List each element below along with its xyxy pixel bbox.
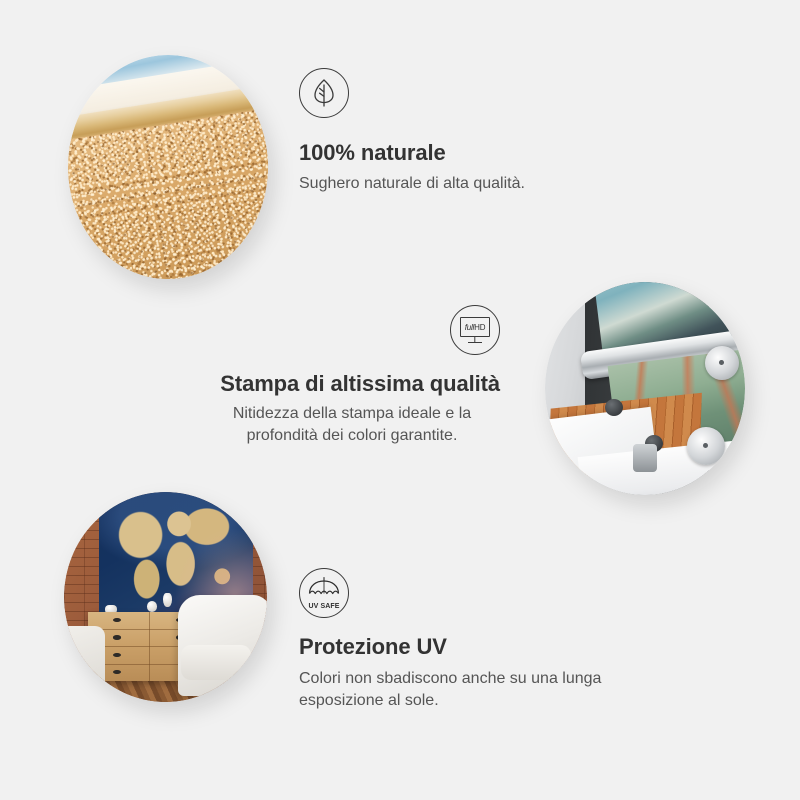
feature-print-title: Stampa di altissima qualità [160,371,500,397]
printer-photo-spindle [633,444,657,472]
feature-uv-title: Protezione UV [299,634,669,660]
cork-board-closeup-photo [68,55,268,279]
room-photo-decor-globe [147,601,157,612]
uv-umbrella-glyph: UV SAFE [305,576,343,610]
umbrella-shape [305,576,343,602]
uv-safe-label: UV SAFE [305,603,343,610]
feature-uv-protection: UV SAFE Protezione UV Colori non sbadisc… [299,568,669,713]
room-photo-drawer-knob [113,653,122,658]
feature-natural-description: Sughero naturale di alta qualità. [299,173,629,195]
room-photo-decor-figure [163,593,171,608]
fullhd-label: fullHD [465,323,486,332]
feature-natural-title: 100% naturale [299,140,629,166]
room-photo-drawer-knob [113,635,122,640]
fullhd-label-italic: full [465,323,474,332]
interior-world-map-photo [64,492,267,702]
feature-uv-description-line-2: esposizione al sole. [299,690,669,712]
room-photo-drawer-knob [113,618,122,623]
printer-photo-wheel-upper [705,346,739,380]
fullhd-monitor-icon: fullHD [450,305,500,355]
feature-print-quality: fullHD Stampa di altissima qualità Nitid… [160,305,500,448]
product-features-panel: 100% naturale Sughero naturale di alta q… [0,0,800,800]
printing-machine-photo [545,282,745,495]
monitor-screen-shape: fullHD [460,317,490,337]
room-photo-armchair-right [178,595,267,696]
feature-print-description-line-2: profondità dei colori garantite. [160,425,500,447]
fullhd-monitor-glyph: fullHD [460,317,490,337]
feature-print-description-line-1: Nitidezza della stampa ideale e la [160,403,500,425]
room-photo-inner [64,492,267,702]
leaf-icon [299,68,349,118]
uv-safe-umbrella-icon: UV SAFE [299,568,349,618]
monitor-foot-shape [468,342,482,343]
printer-photo-wheel-lower [687,427,725,465]
feature-uv-description-line-1: Colori non sbadiscono anche su una lunga [299,668,669,690]
printer-photo-inner [545,282,745,495]
feature-natural: 100% naturale Sughero naturale di alta q… [299,68,629,195]
fullhd-label-regular: HD [474,323,485,332]
room-photo-drawer-knob [113,670,122,675]
feature-print-icon-row: fullHD [160,305,500,355]
room-photo-armchair-left [64,626,105,693]
cork-photo-inner [68,55,268,279]
